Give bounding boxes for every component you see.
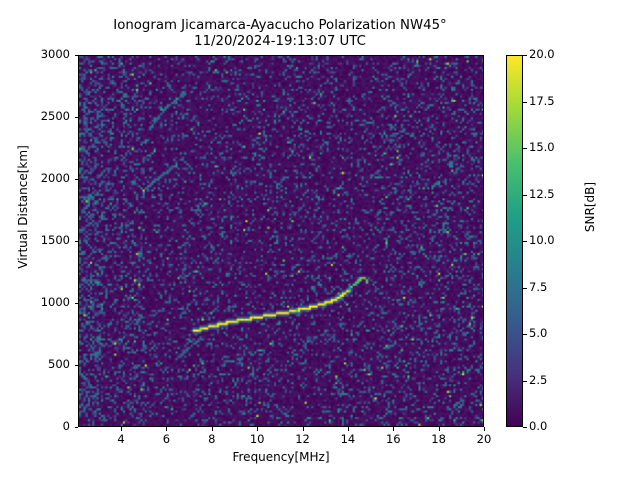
y-tick-label: 500 [26,357,70,371]
x-tick-mark [166,427,167,431]
colorbar-tick-mark [523,288,527,289]
x-tick-mark [212,427,213,431]
colorbar-label: SNR[dB] [583,117,597,297]
colorbar-gradient [507,56,522,426]
y-tick-mark [75,303,79,304]
colorbar-tick-mark [523,241,527,242]
colorbar-tick-label: 10.0 [529,233,555,247]
x-tick-mark [257,427,258,431]
x-tick-label: 20 [464,432,504,446]
x-tick-mark [303,427,304,431]
y-tick-mark [75,365,79,366]
colorbar-tick-label: 7.5 [529,280,547,294]
colorbar-tick-label: 0.0 [529,419,547,433]
x-tick-label: 10 [237,432,277,446]
colorbar-tick-mark [523,195,527,196]
x-tick-label: 18 [419,432,459,446]
x-tick-mark [348,427,349,431]
x-tick-label: 6 [146,432,186,446]
ionogram-heatmap [79,56,483,426]
colorbar-tick-mark [523,427,527,428]
y-tick-label: 0 [26,419,70,433]
colorbar-tick-mark [523,148,527,149]
colorbar-tick-label: 2.5 [529,373,547,387]
x-tick-label: 4 [101,432,141,446]
colorbar [506,55,523,427]
colorbar-tick-label: 17.5 [529,94,555,108]
ionogram-figure: Ionogram Jicamarca-Ayacucho Polarization… [0,0,640,480]
colorbar-tick-mark [523,102,527,103]
x-tick-label: 16 [373,432,413,446]
colorbar-tick-mark [523,381,527,382]
colorbar-tick-mark [523,55,527,56]
title-line-2: 11/20/2024-19:13:07 UTC [0,34,560,50]
colorbar-tick-label: 20.0 [529,47,555,61]
y-tick-label: 1000 [26,295,70,309]
x-tick-label: 14 [328,432,368,446]
x-tick-label: 12 [283,432,323,446]
x-tick-mark [439,427,440,431]
colorbar-tick-mark [523,334,527,335]
y-tick-label: 1500 [26,233,70,247]
y-tick-mark [75,427,79,428]
y-tick-mark [75,241,79,242]
title-line-1: Ionogram Jicamarca-Ayacucho Polarization… [0,18,560,34]
colorbar-tick-label: 15.0 [529,140,555,154]
colorbar-tick-label: 5.0 [529,326,547,340]
x-axis-label: Frequency[MHz] [78,450,484,464]
y-tick-mark [75,179,79,180]
x-tick-mark [484,427,485,431]
y-tick-label: 2500 [26,109,70,123]
y-tick-label: 2000 [26,171,70,185]
y-tick-label: 3000 [26,47,70,61]
y-tick-mark [75,55,79,56]
x-tick-mark [121,427,122,431]
y-tick-mark [75,117,79,118]
y-axis-label: Virtual Distance[km] [16,117,30,297]
colorbar-tick-label: 12.5 [529,187,555,201]
figure-title: Ionogram Jicamarca-Ayacucho Polarization… [0,18,560,50]
x-tick-mark [393,427,394,431]
ionogram-plot-area [78,55,484,427]
x-tick-label: 8 [192,432,232,446]
